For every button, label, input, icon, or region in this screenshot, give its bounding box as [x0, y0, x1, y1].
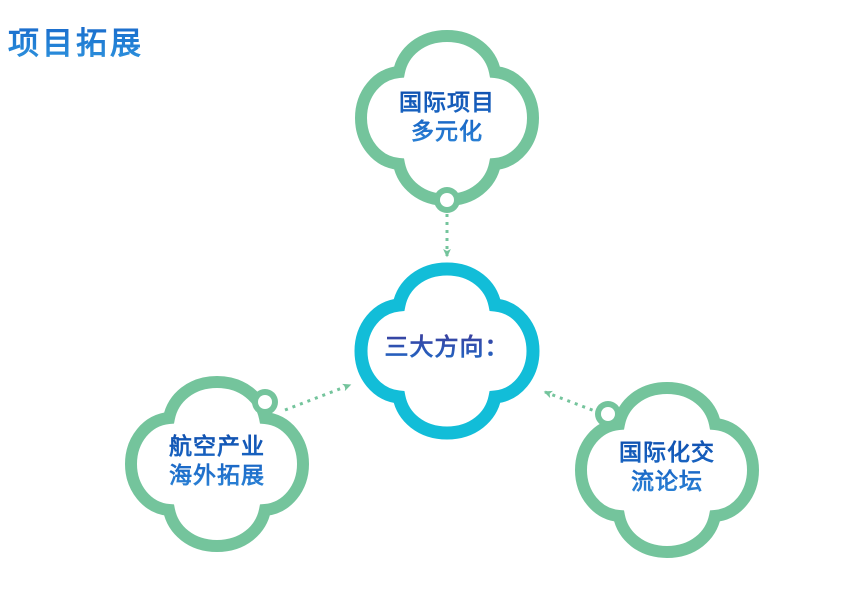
arrow-right-to-center — [545, 392, 600, 413]
center-node[interactable] — [361, 269, 533, 433]
center-node-shape — [361, 269, 533, 433]
node-left-shape — [131, 382, 303, 546]
node-right[interactable] — [581, 388, 753, 552]
node-left[interactable] — [131, 382, 303, 546]
node-left-connector-hole — [258, 395, 272, 409]
node-top[interactable] — [361, 36, 533, 213]
arrow-left-to-center — [285, 385, 350, 410]
connector-arrows — [285, 214, 600, 413]
node-top-shape — [361, 36, 533, 200]
diagram-canvas — [0, 0, 848, 600]
node-top-connector-hole — [440, 193, 454, 207]
page-title: 项目拓展 — [8, 18, 144, 63]
node-right-connector-hole — [601, 407, 615, 421]
